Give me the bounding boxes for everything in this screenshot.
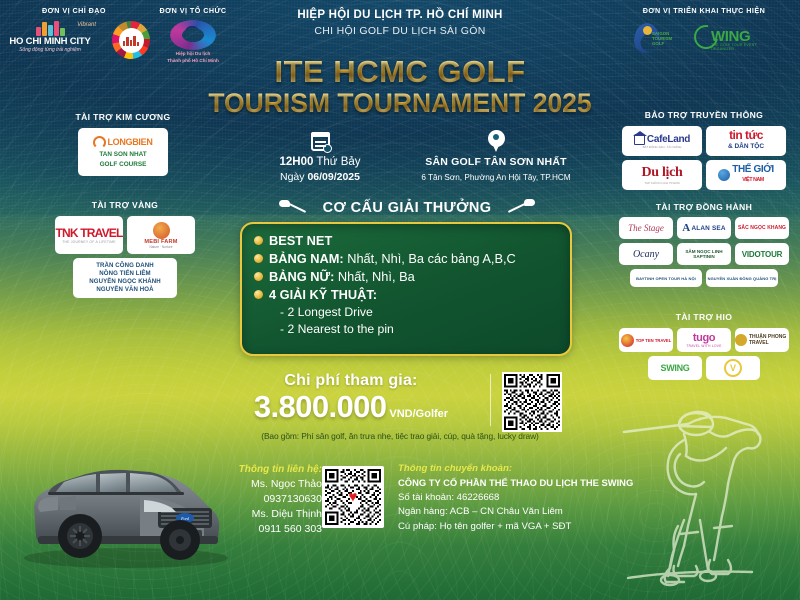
fee-note: (Bao gồm: Phí sân golf, ăn trưa nhẹ, tiệ…	[215, 431, 585, 441]
longbien-name: LONGBIEN	[107, 137, 152, 147]
prize-subitem: - 2 Longest Drive	[280, 304, 558, 321]
mebi-farm-name: MEBI FARM	[144, 239, 177, 245]
date-prefix: Ngày	[280, 171, 305, 183]
individual-name: NGUYỄN VĂN HOÀ	[89, 286, 160, 294]
hio-sponsor-title: TÀI TRỢ HIO	[616, 312, 792, 322]
sponsor-tile-top-ten-travel[interactable]: TOP TEN TRAVEL	[619, 328, 673, 352]
title-line-1: ITE HCMC GOLF	[200, 55, 600, 88]
prize-list-box: BEST NET BẢNG NAM: Nhất, Nhì, Ba các bản…	[240, 222, 572, 356]
prize-detail: Nhất, Nhì, Ba các bảng A,B,C	[344, 251, 516, 266]
top-ten-travel-name: TOP TEN TRAVEL	[636, 338, 672, 343]
map-pin-icon	[488, 130, 505, 153]
sponsor-tile-cafeland[interactable]: CafeLand BẤT ĐỘNG SẢN - TÀI CHÍNH	[622, 126, 702, 156]
venue-name: SÂN GOLF TÂN SƠN NHẤT	[408, 154, 584, 170]
assoc-line-2: CHI HỘI GOLF DU LỊCH SÀI GÒN	[230, 24, 570, 39]
tnk-travel-sub: THE JOURNEY OF A LIFETIME	[55, 240, 122, 244]
bank-heading: Thông tin chuyển khoản:	[398, 462, 648, 476]
calendar-clock-icon	[311, 132, 330, 151]
small-sponsor-name: BAYTINH OPEN TOUR HÀ NỘI	[636, 276, 696, 281]
longbien-logo: LONGBIEN	[93, 136, 152, 149]
hcmc-logo-script: Vibrant	[77, 22, 96, 28]
gold-sponsor-section: TÀI TRỢ VÀNG TNK TRAVEL THE JOURNEY OF A…	[52, 200, 198, 298]
swirl-icon	[170, 20, 216, 50]
individual-name: TRẦN CÔNG DANH	[89, 262, 160, 270]
event-date: 06/09/2025	[307, 171, 360, 183]
ocany-name: Ocany	[633, 249, 659, 260]
tgvn-sub: VIỆT NAM	[732, 175, 773, 185]
dulich-name: Du lịch	[641, 165, 682, 181]
tintuc-name: tin tức	[729, 128, 763, 142]
sponsor-tile-tnk-travel[interactable]: TNK TRAVEL THE JOURNEY OF A LIFETIME	[55, 216, 123, 254]
diamond-sponsor-title: TÀI TRỢ KIM CƯƠNG	[58, 112, 188, 122]
sponsor-tile-thuan-phong[interactable]: THUẬN PHONG TRAVEL	[735, 328, 789, 352]
event-title: ITE HCMC GOLF TOURISM TOURNAMENT 2025	[200, 55, 600, 119]
divider	[490, 374, 491, 426]
vidotour-name: VIDOTOUR	[742, 250, 782, 259]
prize-item: BEST NET	[254, 232, 558, 249]
sgolf-name: SAIGON TOURISM GOLF	[652, 31, 682, 46]
companion-sponsor-section: TÀI TRỢ ĐỒNG HÀNH The Stage AALAN SEA SẮ…	[616, 202, 792, 287]
swing-tagline: THE GOLF TOUR EVENT ORGANIZER	[711, 43, 778, 51]
longbien-ring-icon	[93, 136, 106, 149]
sac-ngoc-khang-name: SẮC NGỌC KHANG	[738, 225, 786, 231]
event-venue-cell: SÂN GOLF TÂN SƠN NHẤT 6 Tân Sơn, Phường …	[408, 128, 584, 185]
sponsor-tile-swing[interactable]: SWING	[648, 356, 702, 380]
individual-name: NỒNG TIẾN LIÊM	[89, 270, 160, 278]
prize-heading-text: CƠ CẤU GIẢI THƯỞNG	[323, 200, 492, 216]
title-line-2: TOURISM TOURNAMENT 2025	[200, 88, 600, 119]
implementing-unit-label: ĐƠN VỊ TRIỂN KHAI THỰC HIỆN	[616, 6, 792, 15]
golfer-swing-illustration	[622, 400, 796, 600]
prize-item: BẢNG NAM: Nhất, Nhì, Ba các bảng A,B,C	[254, 250, 558, 267]
sponsor-tile-ocany[interactable]: Ocany	[619, 243, 673, 265]
bullet-icon	[254, 236, 263, 245]
sponsor-tile-alan-sea[interactable]: AALAN SEA	[677, 217, 731, 239]
fee-unit: VND/Golfer	[389, 408, 448, 420]
event-info-row: 12H00 Thứ Bảy Ngày 06/09/2025 SÂN GOLF T…	[232, 128, 584, 185]
bank-transfer-block: Thông tin chuyển khoản: CÔNG TY CỔ PHẦN …	[398, 462, 648, 534]
golf-club-left-icon	[279, 198, 309, 218]
companion-sponsor-title: TÀI TRỢ ĐỒNG HÀNH	[616, 202, 792, 212]
gold-sponsor-title: TÀI TRỢ VÀNG	[52, 200, 198, 210]
venue-address: 6 Tân Sơn, Phường An Hội Tây, TP.HCM	[408, 170, 584, 185]
payment-qr-code[interactable]: ♥	[322, 466, 384, 528]
prize-subitem: - 2 Nearest to the pin	[280, 321, 558, 338]
house-icon	[634, 134, 645, 145]
association-heading: HIỆP HỘI DU LỊCH TP. HỒ CHÍ MINH CHI HỘI…	[230, 8, 570, 39]
prize-label: BẢNG NỮ:	[269, 269, 334, 284]
sponsor-tile-longbien[interactable]: LONGBIEN TAN SON NHAT GOLF COURSE	[78, 128, 168, 176]
prize-item: 4 GIẢI KỸ THUẬT:	[254, 286, 558, 303]
sponsor-tile-tugo[interactable]: tugo TRAVEL WITH LOVE	[677, 328, 731, 352]
thuan-phong-name: THUẬN PHONG TRAVEL	[749, 334, 789, 346]
globe-icon	[718, 169, 730, 181]
the-swing-logo: WING THE GOLF TOUR EVENT ORGANIZER	[694, 25, 778, 51]
bullet-icon	[254, 272, 263, 281]
hio-sponsor-section: TÀI TRỢ HIO TOP TEN TRAVEL tugo TRAVEL W…	[616, 312, 792, 380]
tugo-sub: TRAVEL WITH LOVE	[686, 344, 721, 348]
ford-everest-suv: Ford	[8, 448, 240, 574]
dulich-sub: TẠP CHÍ DU LỊCH TP.HCM	[641, 181, 682, 185]
golf-club-right-icon	[505, 198, 535, 218]
individual-name: NGUYỄN NGỌC KHÁNH	[89, 278, 160, 286]
event-time: 12H00	[279, 156, 313, 168]
longbien-line2: GOLF COURSE	[100, 161, 147, 169]
bullet-icon	[254, 290, 263, 299]
hcmc-logo-tagline: Sống động từng trải nghiệm	[0, 47, 102, 53]
sponsor-tile-individual-names[interactable]: TRẦN CÔNG DANH NỒNG TIẾN LIÊM NGUYỄN NGỌ…	[73, 258, 177, 298]
assoc-line-1: HIỆP HỘI DU LỊCH TP. HỒ CHÍ MINH	[230, 8, 570, 23]
tintuc-sub: & DÂN TỘC	[728, 141, 764, 153]
bullet-icon	[254, 254, 263, 263]
mebi-farm-mark-icon	[153, 222, 170, 239]
sponsor-tile-v[interactable]: V	[706, 356, 760, 380]
the-stage-name: The Stage	[628, 223, 664, 233]
media-sponsor-title: BẢO TRỢ TRUYỀN THÔNG	[616, 110, 792, 120]
sponsor-tile-saptinin[interactable]: SÂM NGỌC LINH SAPTININ	[677, 243, 731, 265]
fee-label: Chi phí tham gia:	[215, 372, 487, 390]
top-ten-mark-icon	[621, 334, 634, 347]
alan-sea-name: ALAN SEA	[691, 225, 725, 232]
thuan-phong-mark-icon	[735, 334, 747, 346]
bank-account: Số tài khoản: 46226668	[398, 491, 648, 506]
event-datetime-cell: 12H00 Thứ Bảy Ngày 06/09/2025	[232, 128, 408, 185]
fee-amount: 3.800.000	[254, 389, 387, 425]
cafeland-name: CafeLand	[647, 134, 690, 145]
prize-label: BEST NET	[269, 233, 332, 248]
sponsor-tile-vidotour[interactable]: VIDOTOUR	[735, 243, 789, 265]
prize-detail: Nhất, Nhì, Ba	[334, 269, 414, 284]
heart-icon: ♥	[349, 489, 358, 506]
cafeland-logo: CafeLand	[634, 134, 690, 145]
bank-name: Ngân hàng: ACB – CN Châu Văn Liêm	[398, 505, 648, 520]
sponsor-tile-small[interactable]: BAYTINH OPEN TOUR HÀ NỘI	[630, 269, 702, 287]
sponsor-tile-mebi-farm[interactable]: MEBI FARM Nature · Nurture	[127, 216, 195, 254]
mebi-farm-sub: Nature · Nurture	[144, 245, 177, 249]
sponsor-tile-small[interactable]: NGUYỄN XUÂN ĐÔNG QUẢNG TRỊ	[706, 269, 778, 287]
sponsor-tile-du-lich[interactable]: Du lịch TẠP CHÍ DU LỊCH TP.HCM	[622, 160, 702, 190]
sponsor-tile-the-gioi-viet-nam[interactable]: THẾ GIỚI VIỆT NAM	[706, 160, 786, 190]
longbien-line1: TAN SON NHAT	[99, 151, 146, 159]
saigon-tourism-golf-logo: SAIGON TOURISM GOLF	[630, 21, 682, 55]
prize-label: 4 GIẢI KỸ THUẬT:	[269, 287, 377, 302]
bank-syntax: Cú pháp: Họ tên golfer + mã VGA + SĐT	[398, 520, 648, 535]
v-logo-name: V	[724, 359, 742, 377]
sponsor-tile-tin-tuc[interactable]: tin tức & DÂN TỘC	[706, 126, 786, 156]
media-sponsor-section: BẢO TRỢ TRUYỀN THÔNG CafeLand BẤT ĐỘNG S…	[616, 110, 792, 190]
hcmc-logo-text: HO CHI MINH CITY	[0, 36, 102, 47]
cafeland-sub: BẤT ĐỘNG SẢN - TÀI CHÍNH	[634, 145, 690, 149]
tugo-name: tugo	[686, 332, 721, 344]
bank-company: CÔNG TY CỔ PHẦN THỂ THAO DU LỊCH THE SWI…	[398, 476, 648, 491]
sponsor-tile-sac-ngoc-khang[interactable]: SẮC NGỌC KHANG	[735, 217, 789, 239]
header-right-block: ĐƠN VỊ TRIỂN KHAI THỰC HIỆN SAIGON TOURI…	[616, 6, 792, 55]
organizing-unit-label: ĐƠN VỊ TỔ CHỨC	[159, 6, 226, 15]
prize-label: BẢNG NAM:	[269, 251, 344, 266]
tnk-travel-name: TNK TRAVEL	[55, 226, 122, 240]
directing-unit-label: ĐƠN VỊ CHỈ ĐẠO	[42, 6, 106, 15]
event-weekday: Thứ Bảy	[316, 156, 360, 168]
diamond-sponsor-section: TÀI TRỢ KIM CƯƠNG LONGBIEN TAN SON NHAT …	[58, 112, 188, 176]
prize-item: BẢNG NỮ: Nhất, Nhì, Ba	[254, 268, 558, 285]
sponsor-tile-the-stage[interactable]: The Stage	[619, 217, 673, 239]
saptinin-name: SÂM NGỌC LINH SAPTININ	[677, 249, 731, 260]
tgvn-name: THẾ GIỚI	[732, 164, 773, 175]
registration-qr-code[interactable]	[502, 372, 562, 432]
hcmc-city-logo: Vibrant HO CHI MINH CITY Sống động từng …	[0, 20, 102, 60]
swing-sponsor-name: SWING	[661, 363, 690, 373]
small-sponsor-name: NGUYỄN XUÂN ĐÔNG QUẢNG TRỊ	[708, 276, 777, 281]
prize-structure-header: CƠ CẤU GIẢI THƯỞNG	[238, 198, 576, 218]
poster-canvas: ĐƠN VỊ CHỈ ĐẠO Vibrant HO CHI MINH CITY …	[0, 0, 800, 600]
